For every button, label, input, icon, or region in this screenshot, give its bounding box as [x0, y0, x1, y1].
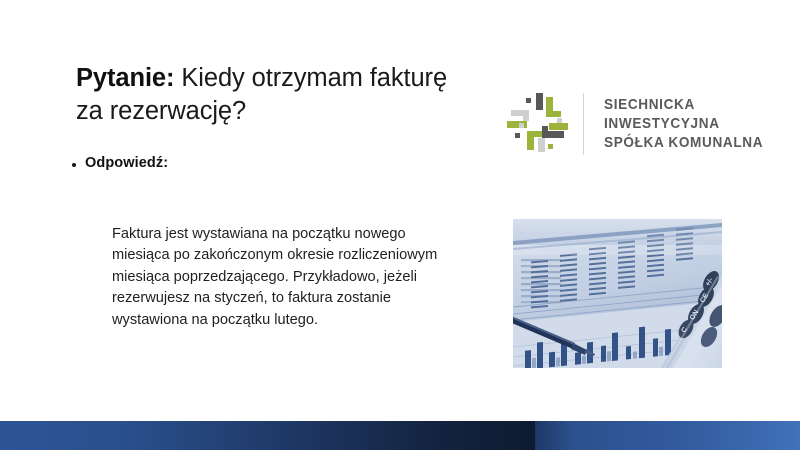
slide-canvas: Pytanie: Kiedy otrzymam fakturę za rezer…: [0, 0, 800, 450]
title-lead: Pytanie:: [76, 64, 174, 92]
logo-divider: [583, 93, 584, 155]
bottom-decorative-bar: [0, 421, 800, 450]
logo-line-1: SIECHNICKA: [604, 97, 763, 114]
logo-line-3: SPÓŁKA KOMUNALNA: [604, 135, 763, 152]
financial-photo-illustration: +/- CE ON C: [513, 219, 722, 368]
answer-body-text: Faktura jest wystawiana na początku nowe…: [112, 224, 464, 331]
financial-photo: +/- CE ON C: [513, 219, 722, 368]
siechnicka-pinwheel-mark-icon: [505, 93, 571, 155]
page-title: Pytanie: Kiedy otrzymam fakturę za rezer…: [76, 62, 476, 128]
logo-wordmark: SIECHNICKA INWESTYCYJNA SPÓŁKA KOMUNALNA: [604, 97, 775, 152]
bottom-bar-right-segment: [535, 421, 800, 450]
logo-line-2: INWESTYCYJNA: [604, 116, 763, 133]
bullet-dot-icon: [72, 163, 76, 167]
bottom-bar-left-segment: [0, 421, 535, 450]
answer-bullet-row: Odpowiedź:: [72, 155, 168, 171]
company-logo: SIECHNICKA INWESTYCYJNA SPÓŁKA KOMUNALNA: [505, 88, 770, 160]
answer-label: Odpowiedź:: [85, 155, 168, 171]
